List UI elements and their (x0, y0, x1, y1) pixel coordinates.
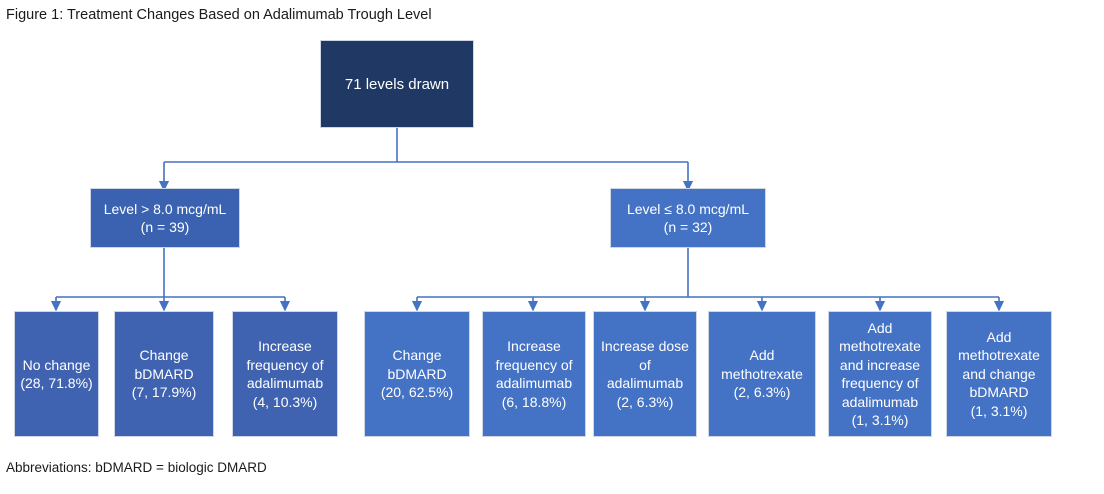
node-leaf-increase-dose[interactable]: Increase dose of adalimumab (2, 6.3%) (593, 311, 697, 437)
node-branch-left-label: Level > 8.0 mcg/mL (n = 39) (104, 200, 227, 236)
node-leaf-change-bdmard-left-label: Change bDMARD (7, 17.9%) (132, 346, 197, 402)
node-leaf-increase-frequency-left-label: Increase frequency of adalimumab (4, 10.… (246, 337, 323, 411)
figure-title: Figure 1: Treatment Changes Based on Ada… (6, 6, 432, 24)
node-branch-level-at-or-below-threshold[interactable]: Level ≤ 8.0 mcg/mL (n = 32) (610, 188, 766, 248)
abbreviations-footnote: Abbreviations: bDMARD = biologic DMARD (6, 459, 267, 477)
node-leaf-no-change-label: No change (28, 71.8%) (20, 356, 92, 393)
node-leaf-add-methotrexate-label: Add methotrexate (2, 6.3%) (721, 346, 803, 402)
node-branch-level-above-threshold[interactable]: Level > 8.0 mcg/mL (n = 39) (90, 188, 240, 248)
node-branch-right-label: Level ≤ 8.0 mcg/mL (n = 32) (627, 200, 749, 236)
node-leaf-increase-frequency-right[interactable]: Increase frequency of adalimumab (6, 18.… (482, 311, 586, 437)
node-leaf-add-methotrexate[interactable]: Add methotrexate (2, 6.3%) (708, 311, 816, 437)
node-leaf-increase-dose-label: Increase dose of adalimumab (2, 6.3%) (601, 337, 689, 411)
connector-left-branch-to-leaves (56, 248, 285, 306)
connector-right-branch-to-leaves (417, 248, 999, 306)
node-leaf-change-bdmard-right-label: Change bDMARD (20, 62.5%) (381, 346, 453, 402)
node-root-label: 71 levels drawn (345, 75, 449, 94)
node-leaf-increase-frequency-right-label: Increase frequency of adalimumab (6, 18.… (495, 337, 572, 411)
node-leaf-change-bdmard-left[interactable]: Change bDMARD (7, 17.9%) (114, 311, 214, 437)
node-leaf-add-methotrexate-change-bdmard[interactable]: Add methotrexate and change bDMARD (1, 3… (946, 311, 1052, 437)
node-leaf-change-bdmard-right[interactable]: Change bDMARD (20, 62.5%) (364, 311, 470, 437)
node-leaf-add-methotrexate-increase-frequency[interactable]: Add methotrexate and increase frequency … (828, 311, 932, 437)
node-root-levels-drawn[interactable]: 71 levels drawn (320, 40, 474, 128)
node-leaf-no-change[interactable]: No change (28, 71.8%) (14, 311, 99, 437)
connector-root-to-branches (164, 128, 688, 186)
node-leaf-increase-frequency-left[interactable]: Increase frequency of adalimumab (4, 10.… (232, 311, 338, 437)
node-leaf-add-methotrexate-change-bdmard-label: Add methotrexate and change bDMARD (1, 3… (958, 328, 1040, 421)
node-leaf-add-methotrexate-increase-frequency-label: Add methotrexate and increase frequency … (839, 319, 921, 430)
